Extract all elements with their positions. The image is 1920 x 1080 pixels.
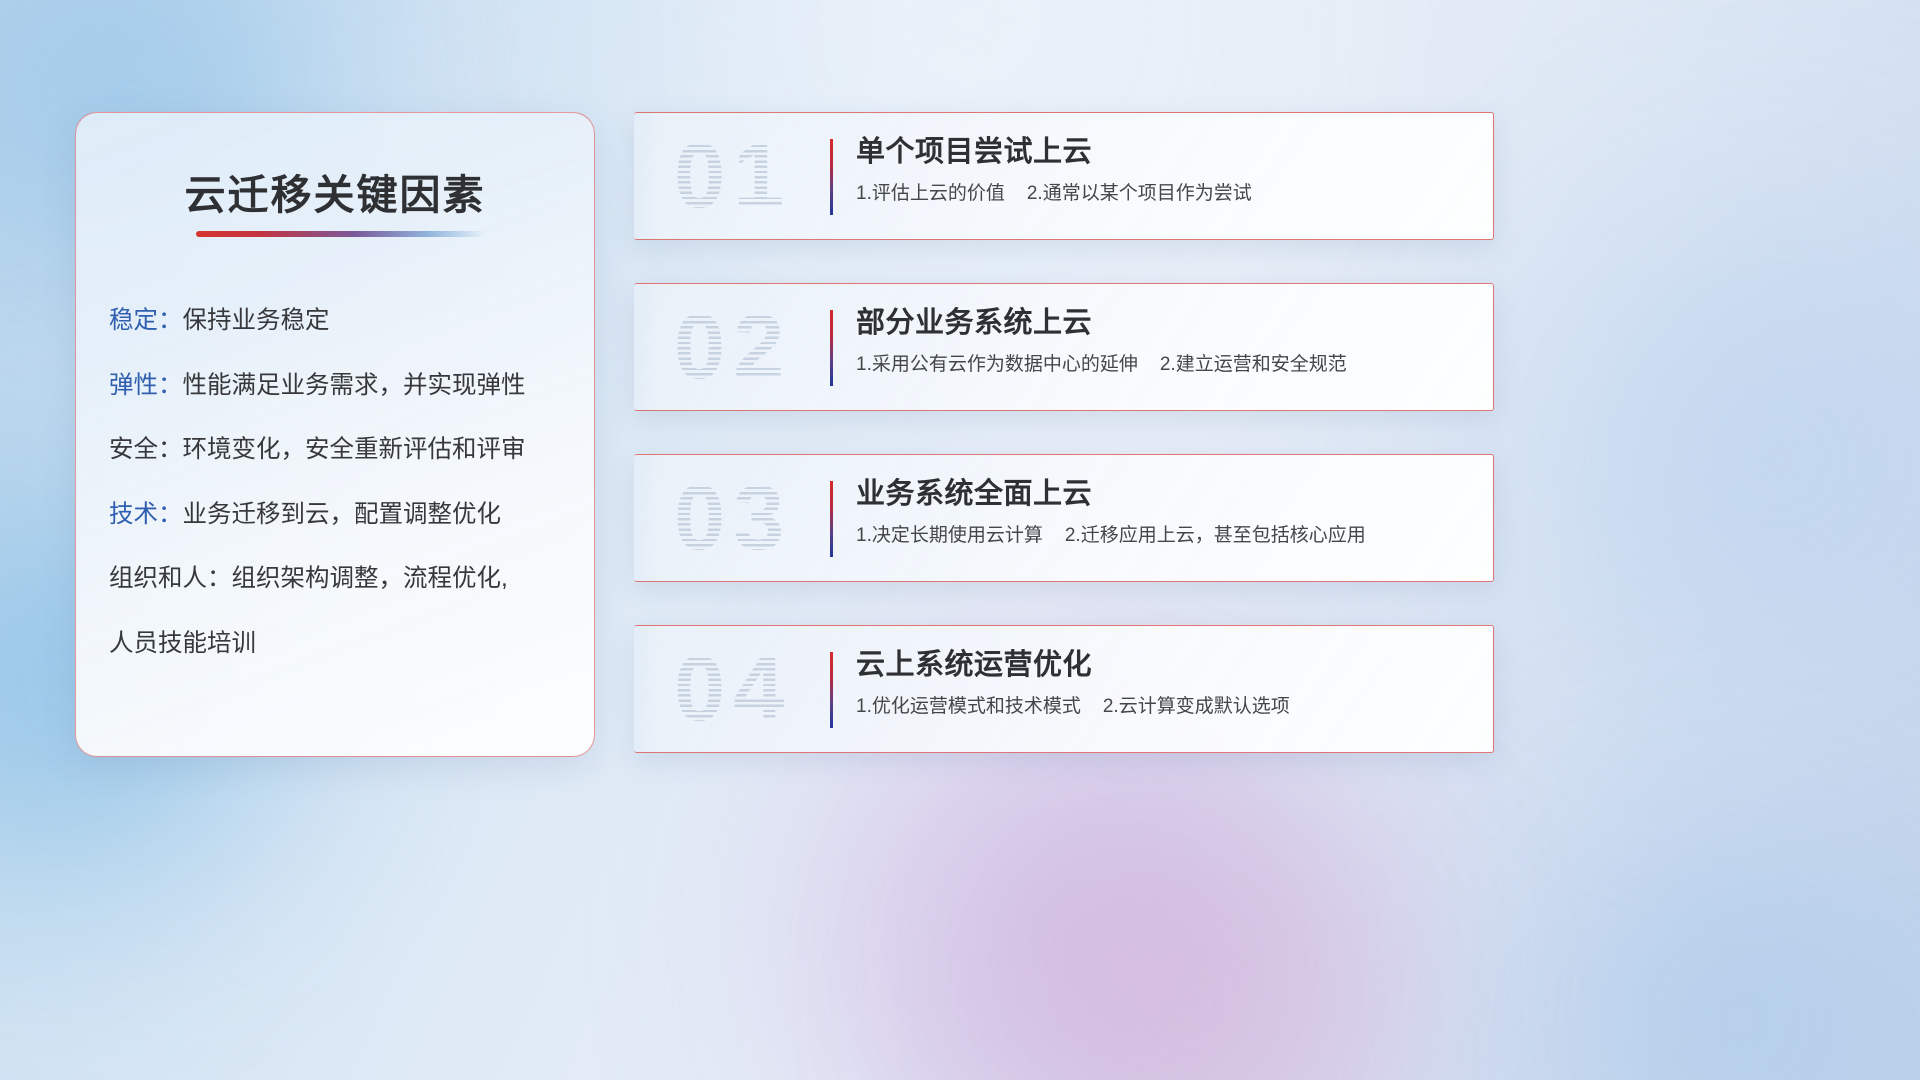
factor-line: 安全：环境变化，安全重新评估和评审 (109, 438, 574, 463)
factor-label: 稳定： (109, 307, 183, 334)
page-title: 云迁移关键因素 (76, 161, 594, 221)
card-point-1: 1.决定长期使用云计算 (856, 525, 1043, 546)
card-body: 云上系统运营优化1.优化运营模式和技术模式2.云计算变成默认选项 (856, 648, 1469, 719)
card-accent-divider (830, 652, 833, 728)
card-point-1: 1.评估上云的价值 (856, 183, 1005, 204)
factor-label: 组织和人： (109, 565, 232, 592)
factor-line: 技术：业务迁移到云，配置调整优化 (109, 503, 574, 528)
factor-line: 组织和人：组织架构调整，流程优化, (109, 567, 574, 592)
factor-label: 安全： (109, 436, 183, 463)
card-point-2: 2.迁移应用上云，甚至包括核心应用 (1065, 525, 1366, 546)
stage-card[interactable]: 02部分业务系统上云1.采用公有云作为数据中心的延伸2.建立运营和安全规范 (634, 283, 1494, 411)
factor-label: 弹性： (109, 372, 183, 399)
card-subtitle: 1.优化运营模式和技术模式2.云计算变成默认选项 (856, 695, 1469, 719)
card-point-2: 2.云计算变成默认选项 (1103, 696, 1290, 717)
stage-number-watermark: 03 (674, 466, 834, 570)
factor-text: 保持业务稳定 (183, 307, 330, 334)
key-factors-panel: 云迁移关键因素 稳定：保持业务稳定弹性：性能满足业务需求，并实现弹性安全：环境变… (75, 112, 595, 757)
factor-line: 稳定：保持业务稳定 (109, 309, 574, 334)
card-accent-divider (830, 139, 833, 215)
card-point-2: 2.通常以某个项目作为尝试 (1027, 183, 1252, 204)
card-point-1: 1.优化运营模式和技术模式 (856, 696, 1081, 717)
card-subtitle: 1.评估上云的价值2.通常以某个项目作为尝试 (856, 182, 1469, 206)
card-left-fade (634, 284, 660, 410)
factor-text: 性能满足业务需求，并实现弹性 (183, 372, 526, 399)
card-left-fade (634, 455, 660, 581)
card-subtitle: 1.决定长期使用云计算2.迁移应用上云，甚至包括核心应用 (856, 524, 1469, 548)
card-point-1: 1.采用公有云作为数据中心的延伸 (856, 354, 1138, 375)
stage-number-watermark: 02 (674, 295, 834, 399)
stage-number-watermark: 01 (674, 124, 834, 228)
stage-card[interactable]: 03业务系统全面上云1.决定长期使用云计算2.迁移应用上云，甚至包括核心应用 (634, 454, 1494, 582)
factor-line: 人员技能培训 (109, 632, 574, 657)
card-title: 单个项目尝试上云 (856, 135, 1469, 170)
card-point-2: 2.建立运营和安全规范 (1160, 354, 1347, 375)
card-title: 业务系统全面上云 (856, 477, 1469, 512)
card-title: 部分业务系统上云 (856, 306, 1469, 341)
card-title: 云上系统运营优化 (856, 648, 1469, 683)
card-subtitle: 1.采用公有云作为数据中心的延伸2.建立运营和安全规范 (856, 353, 1469, 377)
factor-text: 业务迁移到云，配置调整优化 (183, 501, 502, 528)
title-underline-accent (196, 231, 486, 237)
factor-list: 稳定：保持业务稳定弹性：性能满足业务需求，并实现弹性安全：环境变化，安全重新评估… (109, 309, 574, 656)
migration-stage-cards: 01单个项目尝试上云1.评估上云的价值2.通常以某个项目作为尝试02部分业务系统… (634, 112, 1494, 753)
card-left-fade (634, 113, 660, 239)
card-accent-divider (830, 310, 833, 386)
card-body: 单个项目尝试上云1.评估上云的价值2.通常以某个项目作为尝试 (856, 135, 1469, 206)
card-body: 部分业务系统上云1.采用公有云作为数据中心的延伸2.建立运营和安全规范 (856, 306, 1469, 377)
factor-text: 环境变化，安全重新评估和评审 (183, 436, 526, 463)
factor-label: 技术： (109, 501, 183, 528)
stage-card[interactable]: 04云上系统运营优化1.优化运营模式和技术模式2.云计算变成默认选项 (634, 625, 1494, 753)
stage-card[interactable]: 01单个项目尝试上云1.评估上云的价值2.通常以某个项目作为尝试 (634, 112, 1494, 240)
factor-text: 人员技能培训 (109, 630, 256, 657)
card-left-fade (634, 626, 660, 752)
stage-number-watermark: 04 (674, 637, 834, 741)
card-accent-divider (830, 481, 833, 557)
factor-text: 组织架构调整，流程优化, (232, 565, 508, 592)
card-body: 业务系统全面上云1.决定长期使用云计算2.迁移应用上云，甚至包括核心应用 (856, 477, 1469, 548)
factor-line: 弹性：性能满足业务需求，并实现弹性 (109, 374, 574, 399)
